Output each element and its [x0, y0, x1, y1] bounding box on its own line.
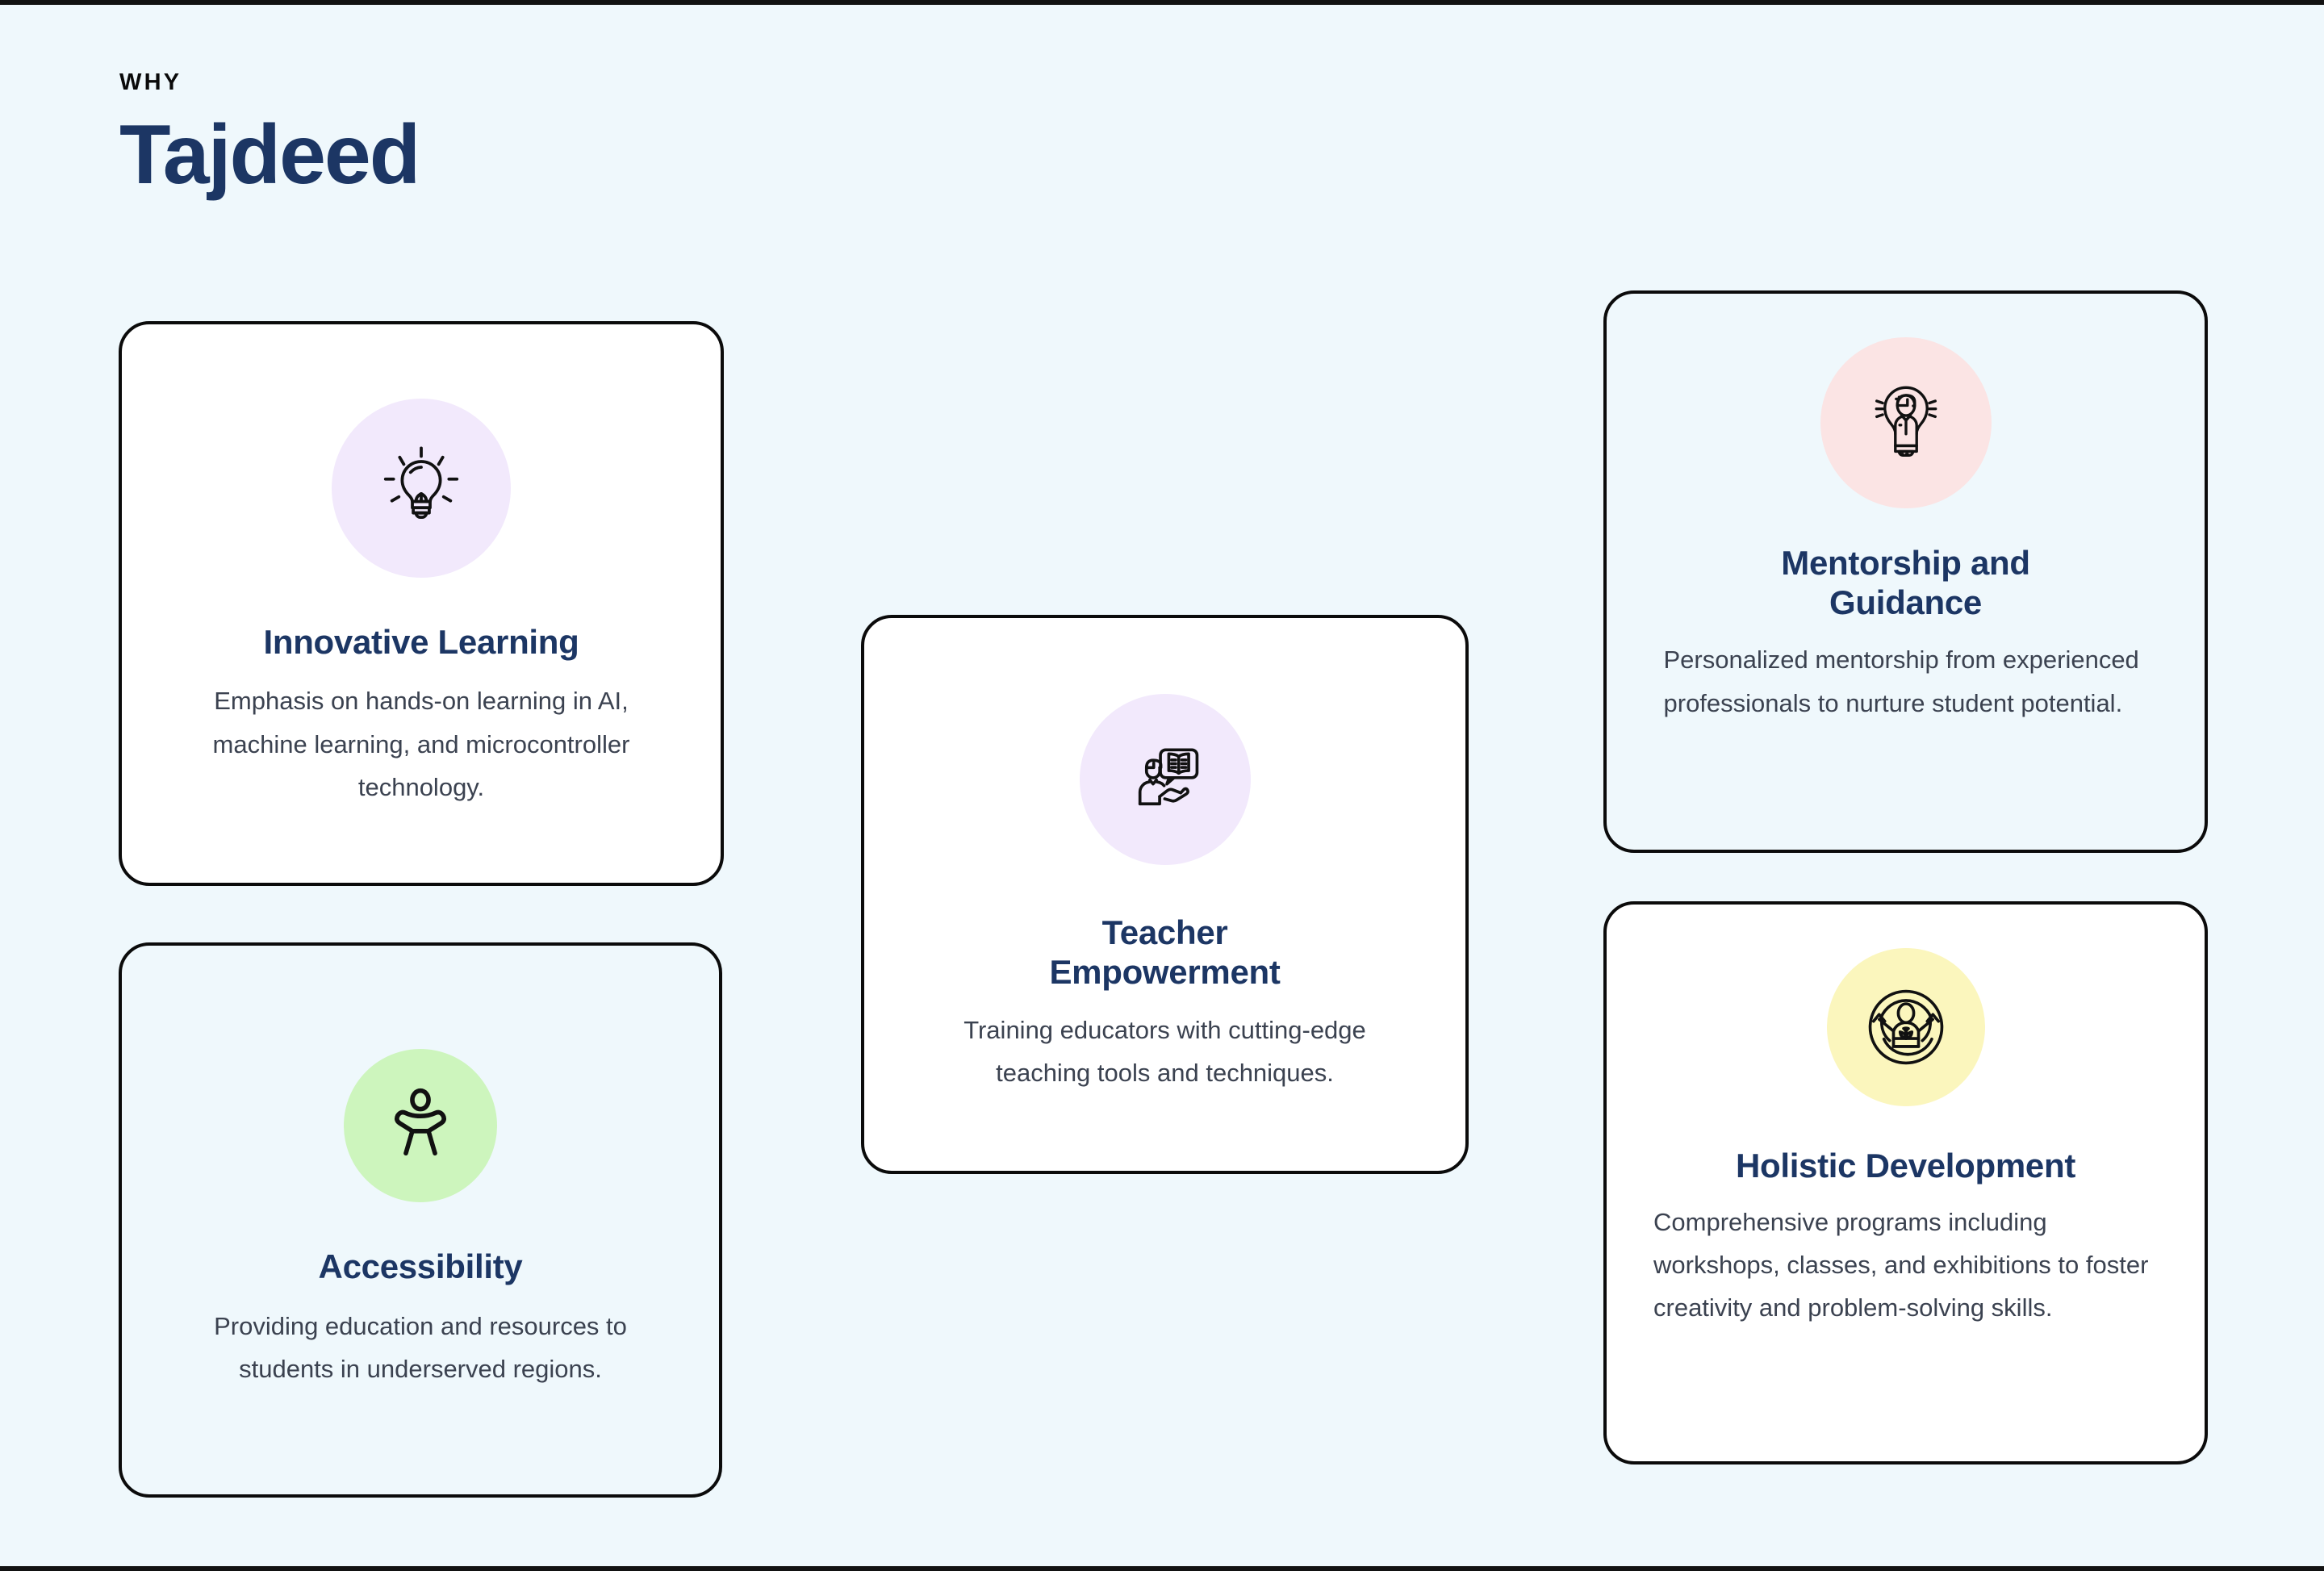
lightbulb-icon [374, 441, 469, 536]
icon-badge-lightbulb [332, 399, 511, 578]
top-edge-rule [0, 0, 2324, 5]
card-body-holistic-development: Comprehensive programs including worksho… [1653, 1201, 2158, 1330]
icon-badge-accessibility [344, 1049, 497, 1202]
card-body-mentorship-guidance: Personalized mentorship from experienced… [1664, 638, 2148, 725]
icon-badge-holistic [1827, 948, 1985, 1106]
card-title-innovative-learning: Innovative Learning [249, 623, 593, 662]
feature-card-innovative-learning[interactable]: Innovative Learning Emphasis on hands-on… [119, 321, 724, 886]
feature-card-holistic-development[interactable]: Holistic Development Comprehensive progr… [1603, 901, 2208, 1464]
feature-card-accessibility[interactable]: Accessibility Providing education and re… [119, 942, 722, 1498]
card-body-teacher-empowerment: Training educators with cutting-edge tea… [923, 1009, 1407, 1095]
accessibility-person-icon [377, 1082, 464, 1169]
mentor-lightbulb-person-icon [1861, 378, 1951, 468]
icon-badge-mentorship [1820, 337, 1992, 508]
card-body-accessibility: Providing education and resources to stu… [170, 1305, 671, 1391]
page-title: Tajdeed [119, 112, 419, 198]
icon-badge-teacher [1080, 694, 1251, 865]
card-title-mentorship-guidance: Mentorship and Guidance [1702, 544, 2110, 622]
card-body-innovative-learning: Emphasis on hands-on learning in AI, mac… [179, 679, 663, 808]
card-title-accessibility: Accessibility [304, 1247, 537, 1287]
feature-card-teacher-empowerment[interactable]: Teacher Empowerment Training educators w… [861, 615, 1469, 1174]
feature-card-mentorship-guidance[interactable]: Mentorship and Guidance Personalized men… [1603, 290, 2208, 853]
person-growth-circle-icon [1860, 981, 1952, 1073]
page-header: WHY Tajdeed [119, 71, 419, 198]
eyebrow-label: WHY [119, 71, 419, 94]
page-canvas: WHY Tajdeed Innovative Learning Emphasis… [0, 0, 2324, 1571]
card-title-holistic-development: Holistic Development [1721, 1147, 2090, 1186]
bottom-edge-rule [0, 1566, 2324, 1571]
teacher-presenting-icon [1122, 736, 1209, 823]
card-title-teacher-empowerment: Teacher Empowerment [977, 913, 1353, 992]
